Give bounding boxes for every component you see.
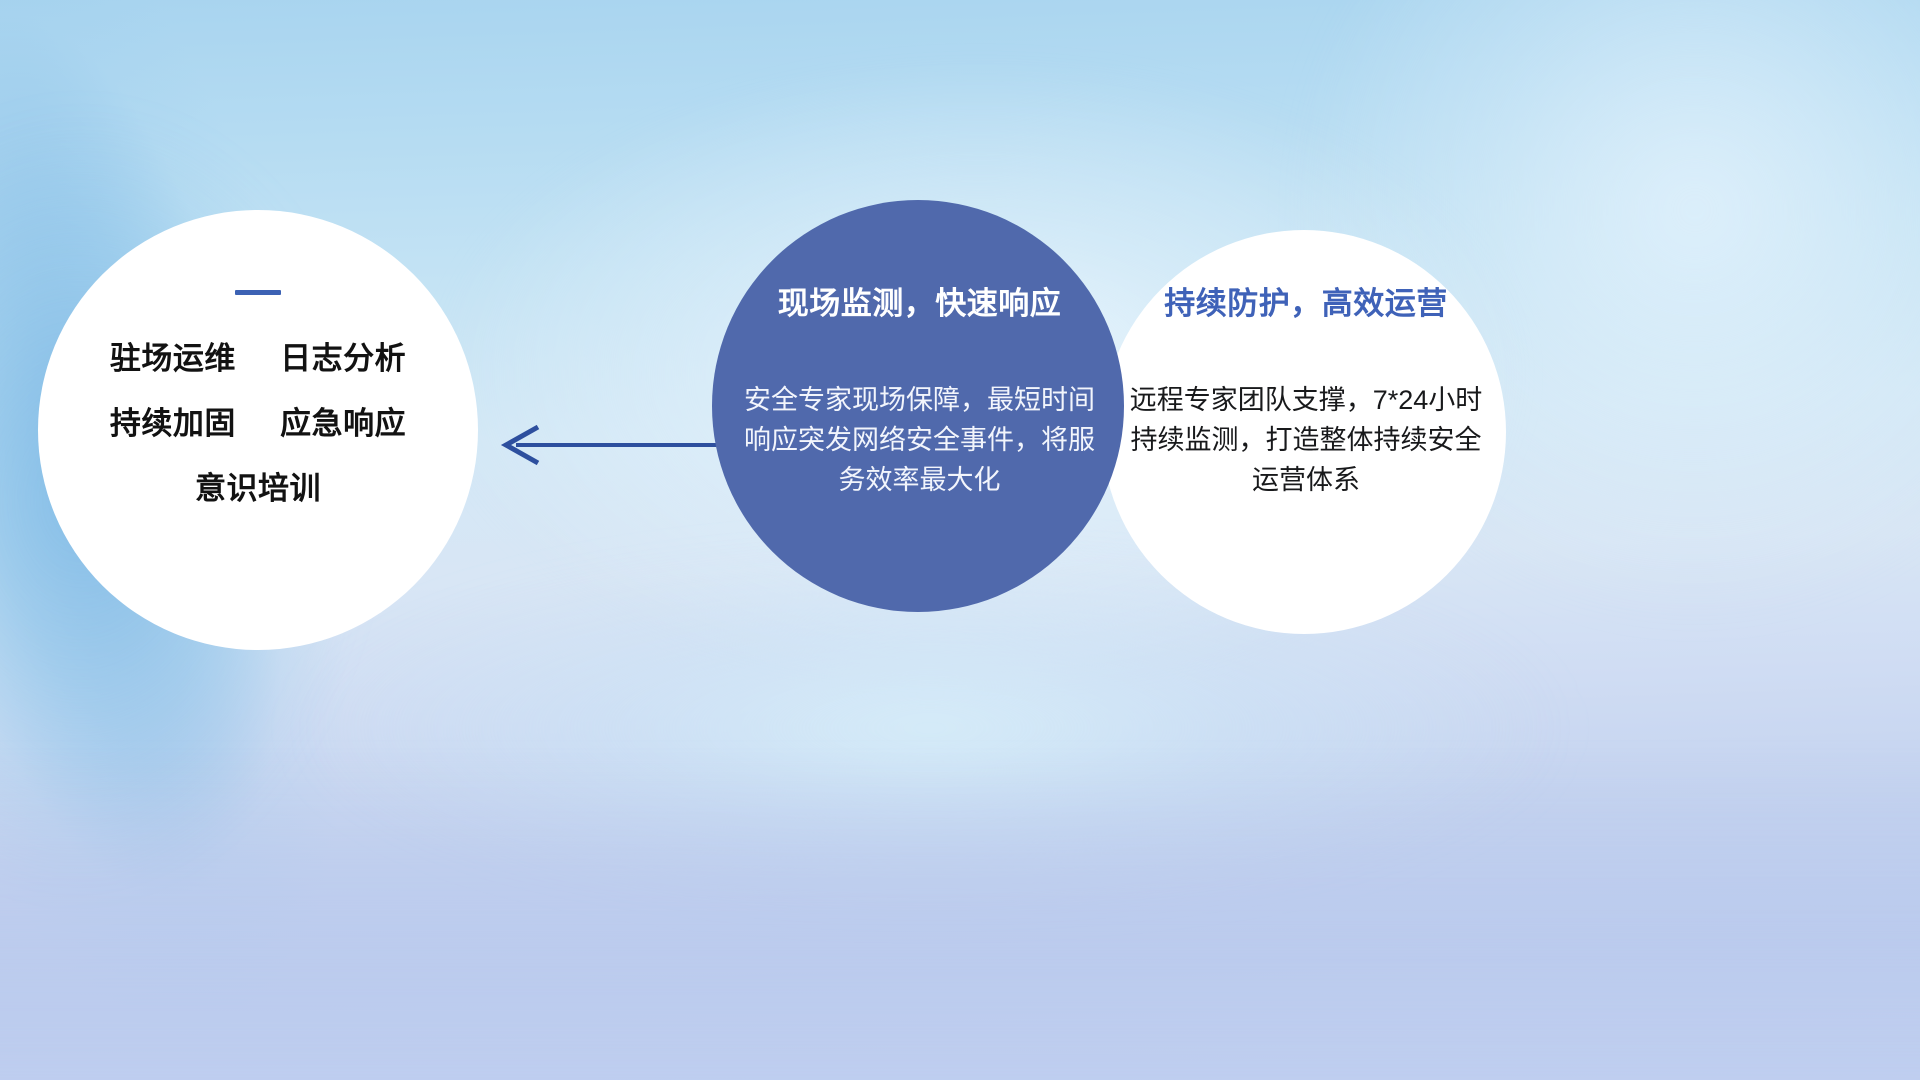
- left-keyword-row-2: 持续加固 应急响应: [38, 408, 478, 439]
- left-keyword-1a: 驻场运维: [110, 341, 236, 376]
- left-circle-content: 驻场运维 日志分析 持续加固 应急响应 意识培训: [38, 290, 478, 504]
- left-keyword-3a: 意识培训: [195, 471, 321, 506]
- left-divider-dash: [235, 290, 281, 295]
- right-circle-title: 持续防护，高效运营: [1120, 288, 1492, 319]
- left-keyword-row-1: 驻场运维 日志分析: [38, 343, 478, 374]
- left-keyword-1b: 日志分析: [280, 341, 406, 376]
- background-bottom-violet-band: [0, 760, 1920, 1080]
- right-circle-body: 远程专家团队支撑，7*24小时持续监测，打造整体持续安全运营体系: [1120, 381, 1492, 501]
- middle-circle-content: 现场监测，快速响应 安全专家现场保障，最短时间响应突发网络安全事件，将服务效率最…: [737, 288, 1102, 501]
- slide-canvas: 驻场运维 日志分析 持续加固 应急响应 意识培训 持续防护，高效运营 远程专家团…: [0, 0, 1920, 1080]
- middle-circle-title: 现场监测，快速响应: [737, 288, 1102, 319]
- left-keyword-2a: 持续加固: [110, 406, 236, 441]
- left-keyword-row-3: 意识培训: [38, 473, 478, 504]
- left-keyword-2b: 应急响应: [280, 406, 406, 441]
- middle-circle-body: 安全专家现场保障，最短时间响应突发网络安全事件，将服务效率最大化: [737, 381, 1102, 501]
- right-circle-content: 持续防护，高效运营 远程专家团队支撑，7*24小时持续监测，打造整体持续安全运营…: [1120, 288, 1492, 501]
